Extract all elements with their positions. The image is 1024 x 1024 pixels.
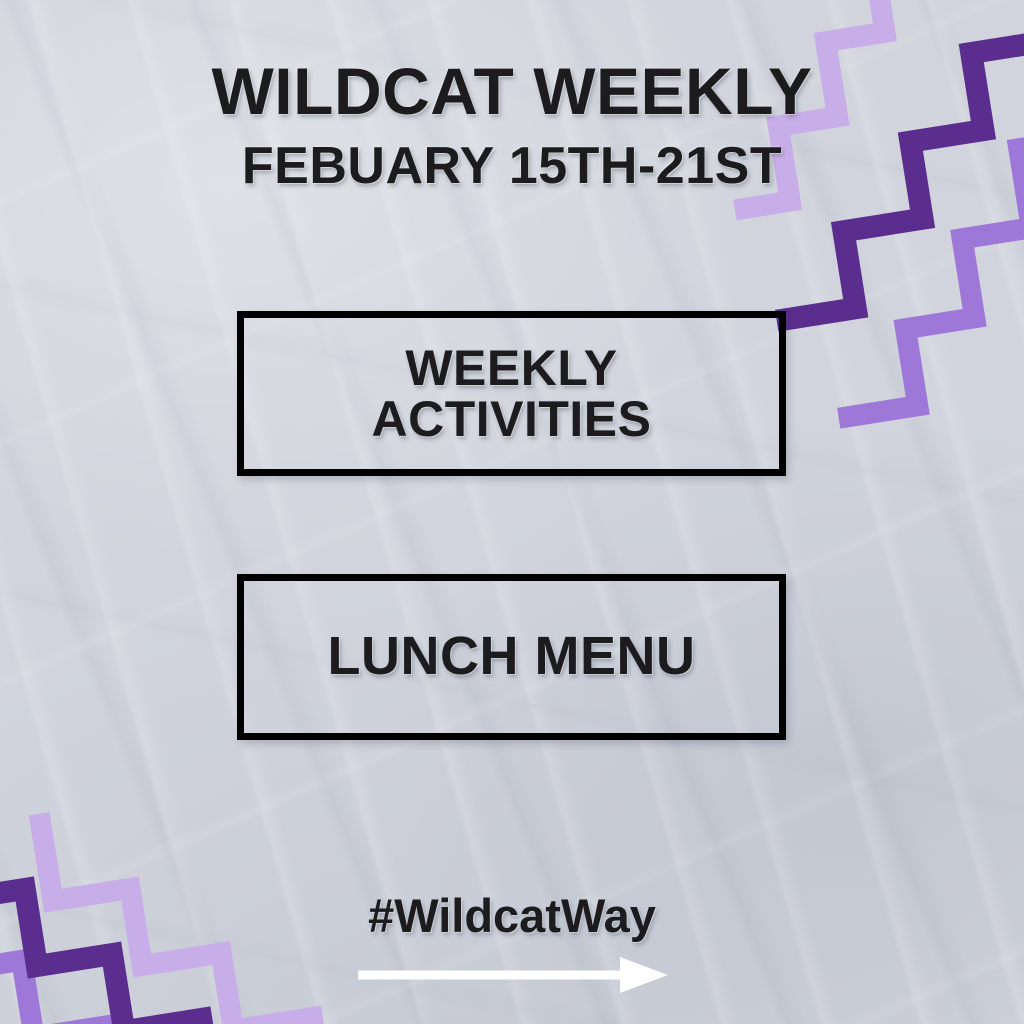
weekly-activities-label-line1: WEEKLY <box>371 343 651 394</box>
poster-canvas: WILDCAT WEEKLY FEBUARY 15TH-21ST WEEKLY … <box>0 0 1024 1024</box>
weekly-activities-button[interactable]: WEEKLY ACTIVITIES <box>237 311 786 476</box>
lunch-menu-label-line1: LUNCH MENU <box>328 629 696 684</box>
page-subtitle: FEBUARY 15TH-21ST <box>0 140 1024 192</box>
lunch-menu-label: LUNCH MENU <box>318 629 706 684</box>
arrow-right-icon <box>358 955 668 995</box>
header-block: WILDCAT WEEKLY FEBUARY 15TH-21ST <box>0 58 1024 192</box>
weekly-activities-label: WEEKLY ACTIVITIES <box>361 343 661 445</box>
hashtag-text: #WildcatWay <box>0 888 1024 943</box>
lunch-menu-button[interactable]: LUNCH MENU <box>237 574 786 740</box>
weekly-activities-label-line2: ACTIVITIES <box>371 394 651 445</box>
page-title: WILDCAT WEEKLY <box>0 58 1024 124</box>
